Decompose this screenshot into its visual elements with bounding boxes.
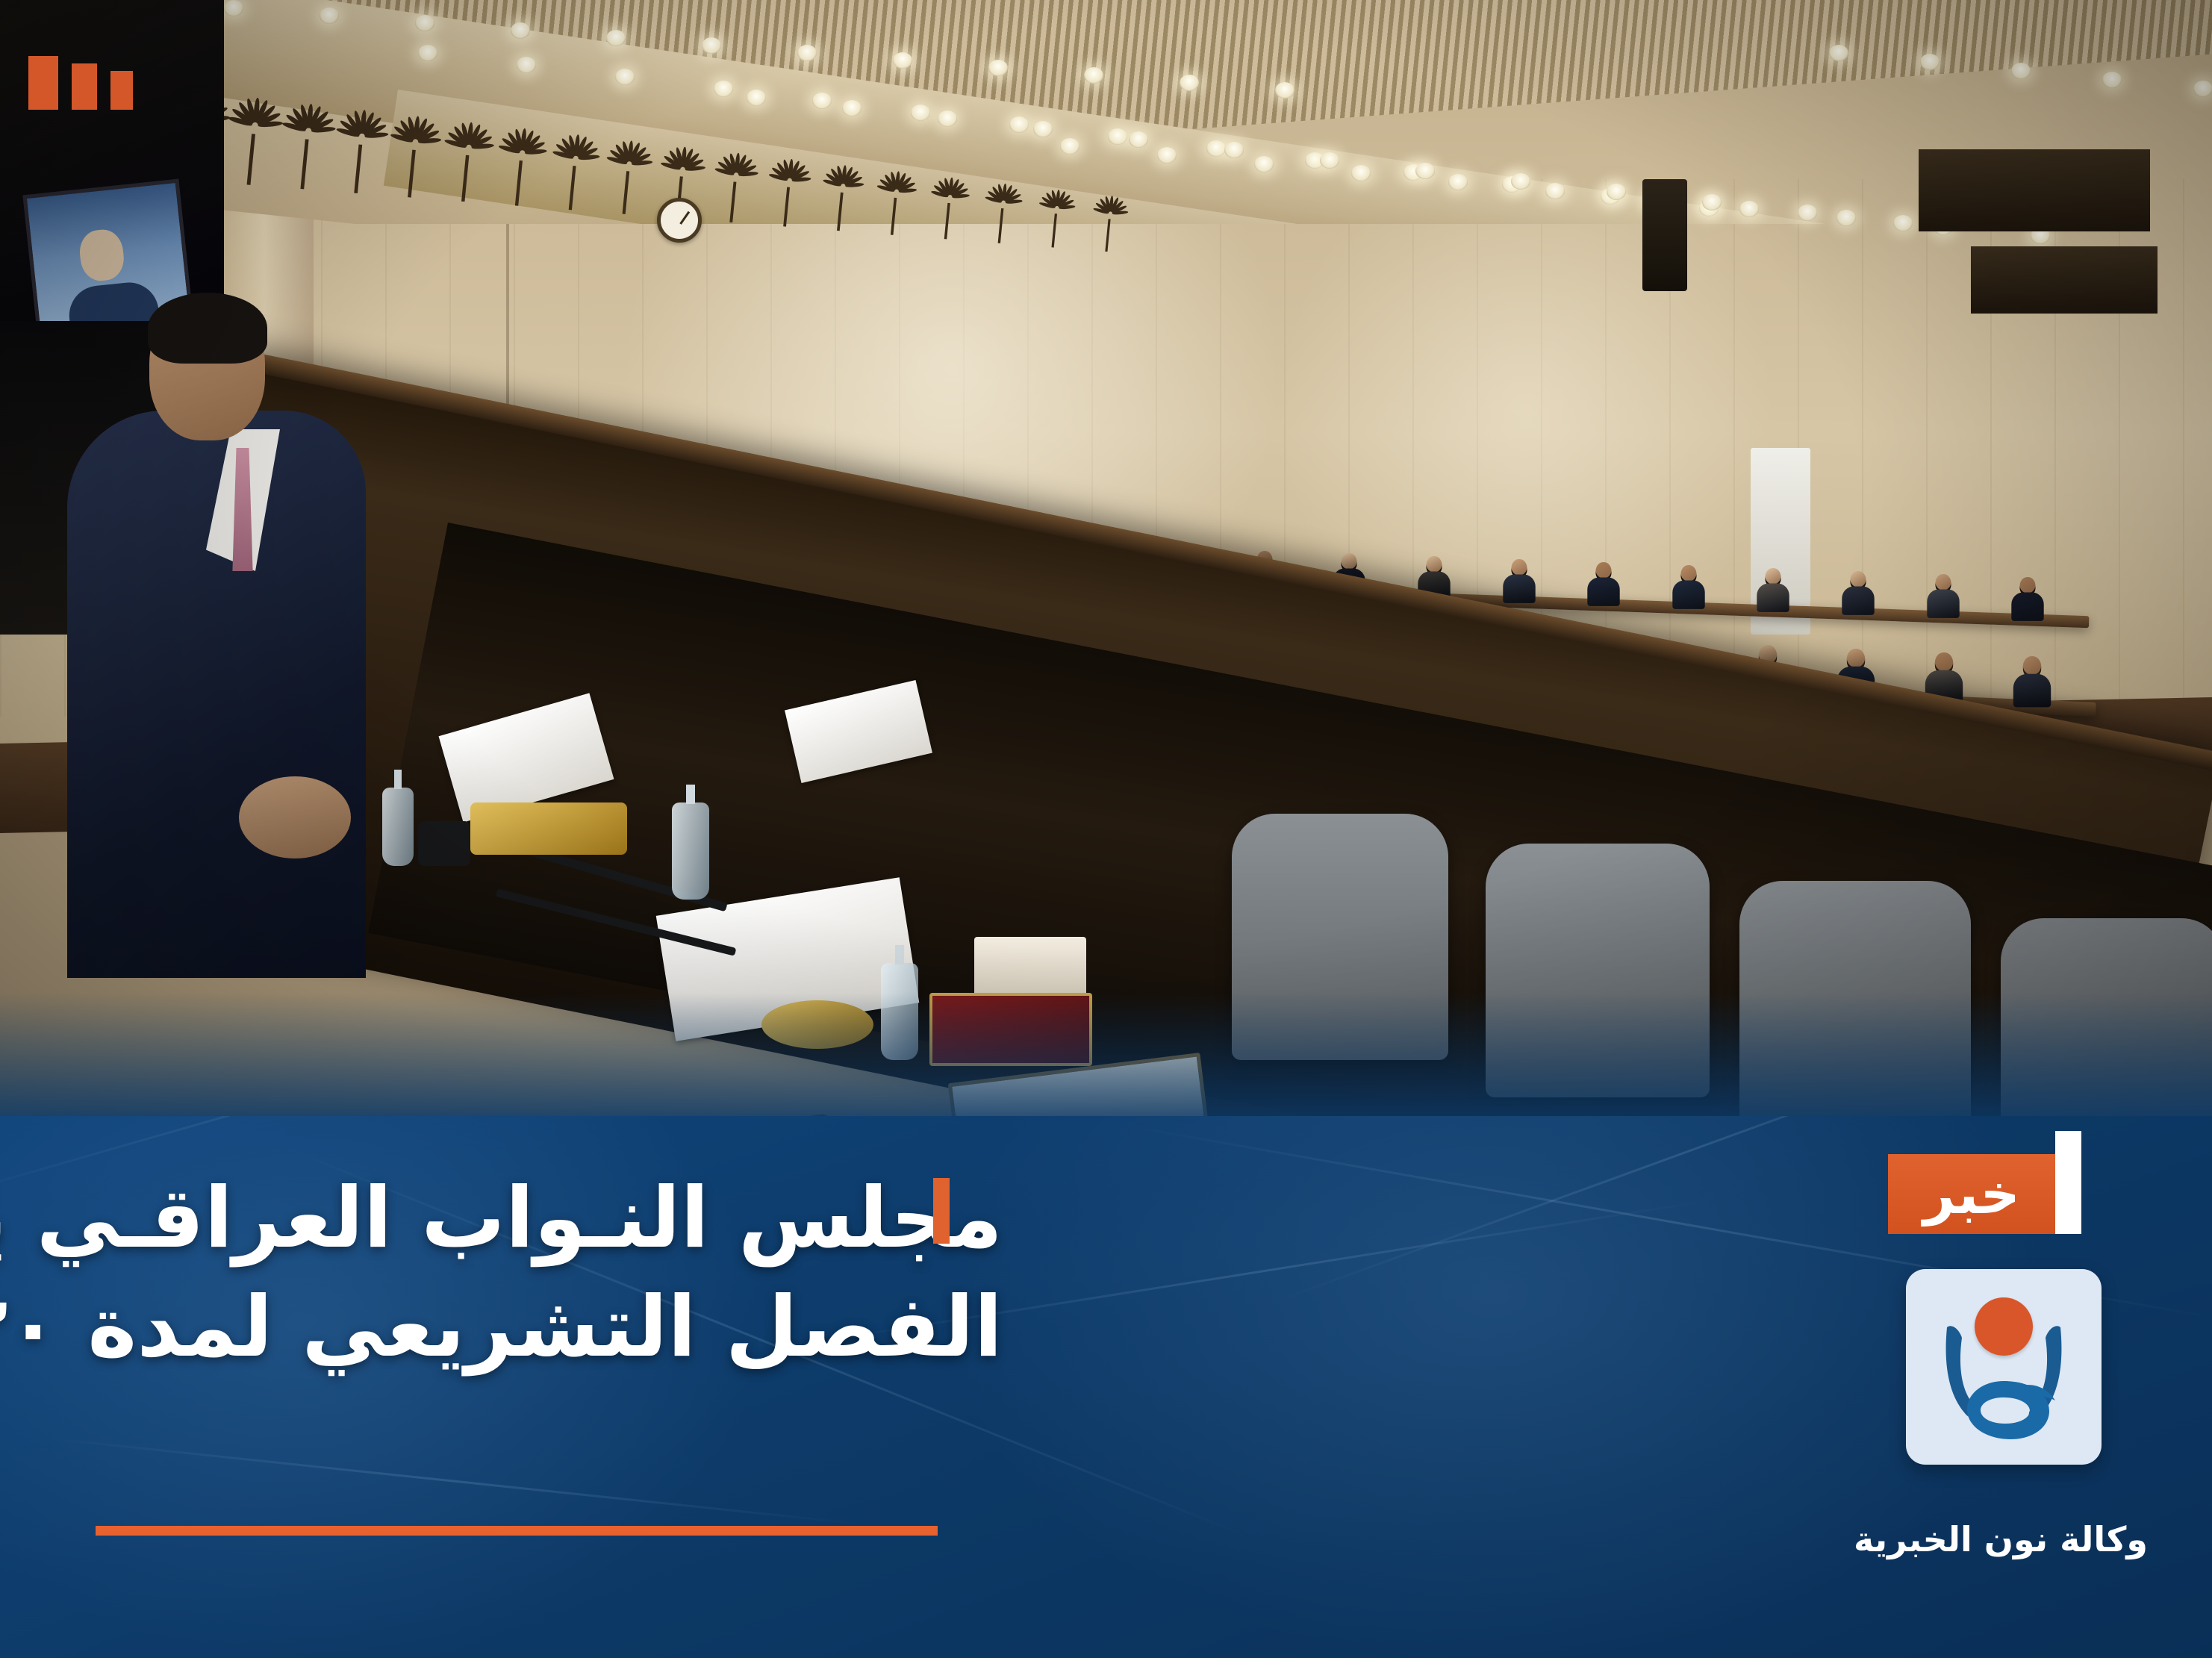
watermark-bar-2 xyxy=(72,63,97,110)
watermark-bar-3 xyxy=(110,71,133,110)
palm-motif xyxy=(822,163,862,232)
ceiling-downlight xyxy=(1836,210,1856,226)
palm-motif xyxy=(1038,188,1073,249)
palm-motif xyxy=(767,158,809,228)
headline: مجلس النـواب العراقـي يقـرر تمديـد الفصل… xyxy=(0,1165,1003,1382)
monitor-feed-head xyxy=(78,228,126,283)
headline-line-1: مجلس النـواب العراقـي يقـرر تمديـد xyxy=(0,1165,1003,1274)
ceiling-downlight xyxy=(1254,156,1274,172)
ceiling-downlight xyxy=(988,60,1008,76)
ceiling-downlight xyxy=(1511,173,1530,190)
three-bar-watermark xyxy=(28,56,155,110)
wall-dark-panel-right-lower xyxy=(1971,246,2158,314)
ceiling-downlight xyxy=(1739,201,1759,217)
ceiling-downlight xyxy=(606,30,626,46)
headline-accent-tick xyxy=(933,1178,950,1244)
palm-motif xyxy=(984,182,1021,245)
news-graphic-card: مجلس النـواب العراقـي يقـرر تمديـد الفصل… xyxy=(0,0,2212,1658)
headline-underline-rule xyxy=(96,1526,938,1536)
ceiling-downlight xyxy=(893,52,912,69)
ceiling-downlight xyxy=(1224,142,1244,158)
palm-motif xyxy=(551,133,597,212)
water-bottle xyxy=(672,802,709,900)
ceiling-downlight xyxy=(1448,174,1468,190)
palm-motif xyxy=(226,96,280,187)
news-badge-label: خبر xyxy=(1923,1167,2020,1222)
ceiling-downlight xyxy=(2193,81,2212,97)
ceiling-downlight xyxy=(1920,54,1940,70)
ceiling-downlight xyxy=(224,0,243,16)
ceiling-downlight xyxy=(1415,163,1435,179)
palm-motif xyxy=(605,139,650,216)
ceiling-downlight xyxy=(797,45,817,61)
agency-logo xyxy=(1906,1269,2102,1465)
palm-motif xyxy=(876,169,915,237)
palm-motif xyxy=(389,114,439,199)
ceiling-downlight xyxy=(1180,75,1199,91)
ceiling-downlight xyxy=(415,15,434,31)
ceiling-downlight xyxy=(702,37,721,54)
wall-clock xyxy=(657,198,702,243)
ceiling-downlight xyxy=(511,22,530,39)
wall-dark-panel-right xyxy=(1919,149,2150,231)
ceiling-downlight xyxy=(320,7,339,24)
palm-motif xyxy=(929,176,968,241)
podium-speaker xyxy=(67,299,381,970)
palm-motif xyxy=(497,126,545,208)
banner-glow xyxy=(933,1116,2053,1658)
ceiling-downlight xyxy=(1351,165,1371,181)
ceiling-downlight xyxy=(1798,205,1817,221)
news-badge-side-bar xyxy=(2055,1131,2081,1234)
headline-line-2: الفصل التشريعي لمدة ٣٠ يوما xyxy=(0,1274,1003,1383)
speaker-hair xyxy=(148,293,267,364)
speaker-hand xyxy=(239,776,351,858)
palm-motif xyxy=(443,120,491,204)
speaker-suit xyxy=(67,411,366,978)
ceiling-downlight xyxy=(1607,184,1626,200)
ceiling-downlight xyxy=(1545,183,1565,199)
ceiling-downlight xyxy=(1320,152,1339,169)
ceiling-downlight xyxy=(1084,67,1103,84)
gold-desk-ornament xyxy=(470,802,627,855)
news-photo xyxy=(0,0,2212,1165)
ceiling-downlight xyxy=(2011,63,2031,79)
wall-speaker xyxy=(1642,179,1687,291)
ceiling-downlight xyxy=(1206,140,1226,157)
palm-motif xyxy=(714,151,756,224)
water-bottle xyxy=(382,788,414,866)
microphone-base xyxy=(418,821,470,866)
ceiling-downlight xyxy=(1893,215,1913,231)
ceiling-downlight xyxy=(2102,72,2122,88)
ceiling-downlight xyxy=(1829,45,1848,61)
news-badge: خبر xyxy=(1888,1154,2055,1234)
palm-motif xyxy=(1092,194,1127,252)
logo-figure-icon xyxy=(1906,1269,2102,1465)
ceiling-downlight xyxy=(1702,194,1722,211)
agency-name: وكالة نون الخبرية xyxy=(1792,1519,2210,1559)
watermark-bar-1 xyxy=(28,56,58,110)
palm-motif xyxy=(334,107,385,195)
palm-motif xyxy=(281,102,333,191)
ceiling-downlight xyxy=(1275,82,1295,99)
